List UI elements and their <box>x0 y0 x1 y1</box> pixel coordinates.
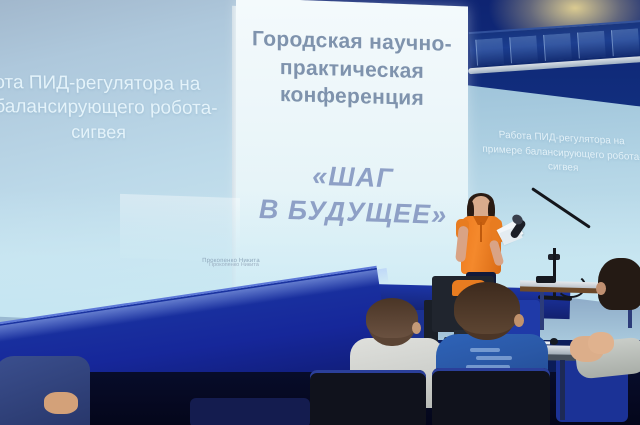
left-slide-line-2: е балансирующего робота- <box>0 95 248 122</box>
audience-member-right-hand-second <box>588 332 614 354</box>
audience-member-right-ear <box>596 282 606 295</box>
center-headline-line-2: В БУДУЩЕЕ» <box>248 192 458 234</box>
audience-blue-ear <box>514 314 524 327</box>
foreground-chair-right <box>432 368 550 425</box>
left-screen-surface <box>0 0 240 328</box>
front-table-leg <box>560 360 565 420</box>
audience-grey-hair <box>366 298 418 338</box>
center-title-line-3: конференция <box>248 81 456 115</box>
slide-thumbnail-artifact <box>120 194 240 262</box>
cap-on-table <box>550 338 558 345</box>
foreground-chair-left <box>310 370 426 425</box>
audience-blue-hair <box>454 282 520 334</box>
audience-member-left <box>0 356 90 425</box>
presenter-shirt-placket <box>480 222 482 242</box>
back-table-equipment <box>536 276 556 283</box>
left-slide-line-3: сигвея <box>0 119 249 145</box>
center-slide-title: Городская научно- практическая конференц… <box>248 25 456 114</box>
left-slide-line-1: ота ПИД-регулятора на <box>0 71 248 98</box>
center-slide-author: Прокопенко Никита <box>186 262 282 268</box>
audience-grey-ear <box>412 322 421 334</box>
audience-member-left-hand <box>44 392 78 414</box>
conference-photo-scene: ота ПИД-регулятора на е балансирующего р… <box>0 0 640 425</box>
left-slide-text: ота ПИД-регулятора на е балансирующего р… <box>0 71 249 145</box>
center-slide-headline: «ШАГ В БУДУЩЕЕ» <box>248 157 458 234</box>
foreground-chair-blue-back <box>190 398 310 425</box>
